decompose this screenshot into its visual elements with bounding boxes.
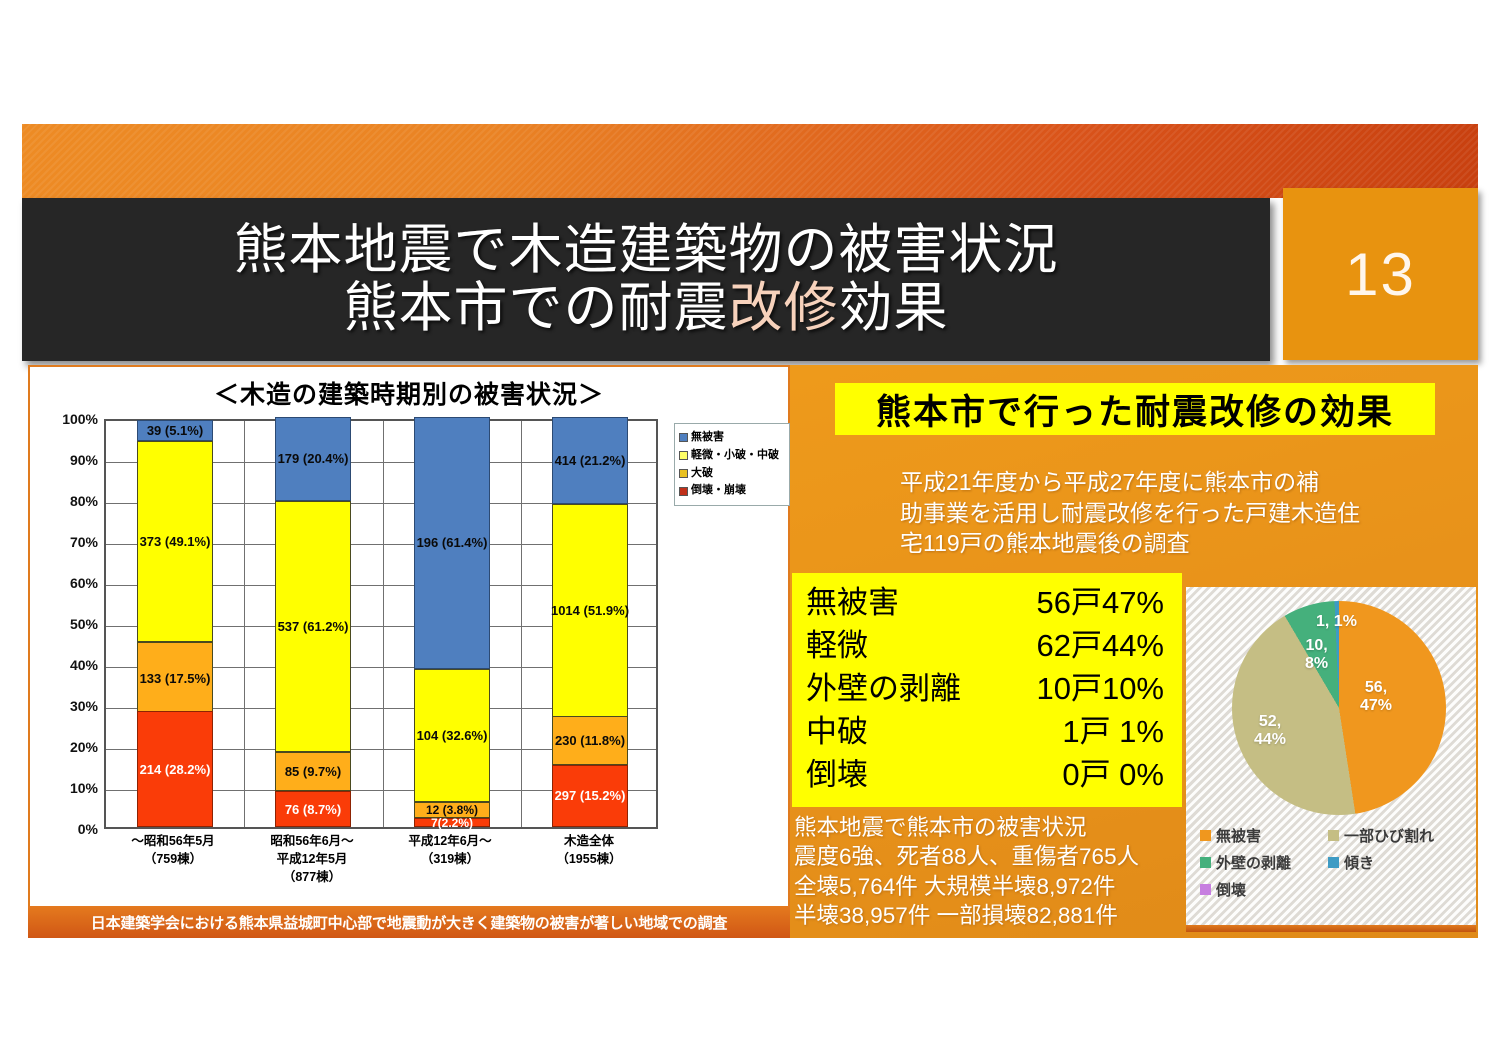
damage-line: 半壊38,957件 一部損壊82,881件 (794, 901, 1194, 930)
pie-label-line: 8% (1305, 655, 1328, 673)
pie-legend-label: 無被害 (1216, 825, 1261, 846)
damage-line: 全壊5,764件 大規模半壊8,972件 (794, 872, 1194, 901)
x-label-line: （1955棟） (515, 851, 663, 869)
y-tick: 50% (40, 616, 98, 632)
description-line: 平成21年度から平成27年度に熊本市の補 (900, 467, 1420, 498)
chart-legend: 無被害 軽微・小破・中破 大破 倒壊・崩壊 (674, 423, 790, 506)
y-tick: 30% (40, 698, 98, 714)
vertical-gridline (383, 421, 384, 827)
pie-chart-card: 56, 47% 52, 44% 10, 8% 1, 1% 無被害 (1186, 587, 1476, 932)
pie-legend-item: 傾き (1328, 852, 1458, 873)
y-tick: 70% (40, 534, 98, 550)
legend-label: 大破 (691, 465, 713, 483)
bar-segment-taiha: 85 (9.7%) (275, 752, 351, 792)
bar-segment-keibi: 1014 (51.9%) (552, 504, 628, 717)
header-accent-band (22, 124, 1478, 198)
pie-card-base-bar (1186, 925, 1476, 932)
retrofit-stats-table: 無被害 56戸47% 軽微 62戸44% 外壁の剥離 10戸10% 中破 1戸 … (792, 573, 1182, 807)
page-number: 13 (1345, 240, 1416, 309)
slide-title-panel: 熊本地震で木造建築物の被害状況 熊本市での耐震改修効果 (22, 198, 1270, 361)
bar-segment-tokai: 7(2.2%) (414, 818, 490, 827)
y-axis-labels: 100% 90% 80% 70% 60% 50% 40% 30% 20% 10%… (38, 419, 98, 894)
chart-area: 100% 90% 80% 70% 60% 50% 40% 30% 20% 10%… (38, 419, 784, 894)
title-line-2-part-a: 熊本市での耐震 (344, 278, 729, 338)
pie-legend-label: 傾き (1344, 852, 1374, 873)
stats-label: 外壁の剥離 (806, 667, 1001, 710)
bar-segment-keibi: 537 (61.2%) (275, 501, 351, 752)
stats-row: 中破 1戸 1% (806, 710, 1172, 753)
title-line-1: 熊本地震で木造建築物の被害状況 (234, 222, 1059, 279)
x-axis-category: 昭和56年6月～ 平成12年5月 （877棟） (238, 833, 386, 886)
pie-label-line: 10, (1305, 637, 1328, 655)
description-line: 助事業を活用し耐震改修を行った戸建木造住 (900, 498, 1420, 529)
bar-segment-muhigai: 414 (21.2%) (552, 417, 628, 504)
stats-label: 無被害 (806, 581, 1001, 624)
stats-row: 無被害 56戸47% (806, 581, 1172, 624)
pie-chart: 56, 47% 52, 44% 10, 8% 1, 1% (1232, 601, 1446, 815)
y-tick: 20% (40, 739, 98, 755)
stats-value: 56戸47% (1001, 581, 1172, 624)
pie-label-line: 56, (1360, 679, 1392, 697)
x-label-line: ～昭和56年5月 (99, 833, 247, 851)
y-tick: 80% (40, 493, 98, 509)
legend-swatch-icon (1328, 830, 1339, 841)
bar-segment-muhigai: 196 (61.4%) (414, 417, 490, 669)
vertical-gridline (521, 421, 522, 827)
bar-chart-panel: ＜木造の建築時期別の被害状況＞ 100% 90% 80% 70% 60% 50%… (28, 365, 790, 935)
damage-line: 熊本地震で熊本市の被害状況 (794, 813, 1194, 842)
legend-item: 無被害 (679, 429, 785, 447)
retrofit-effect-panel: 熊本市で行った耐震改修の効果 平成21年度から平成27年度に熊本市の補 助事業を… (790, 365, 1478, 938)
bar-segment-muhigai: 39 (5.1%) (137, 420, 213, 441)
stats-label: 中破 (806, 710, 1001, 753)
stats-value: 1戸 1% (1001, 710, 1172, 753)
legend-item: 軽微・小破・中破 (679, 447, 785, 465)
y-tick: 100% (40, 411, 98, 427)
bar-segment-tokai: 76 (8.7%) (275, 791, 351, 827)
title-line-2-part-b: 効果 (839, 278, 949, 338)
pie-legend-item: 倒壊 (1200, 879, 1328, 900)
stats-row: 倒壊 0戸 0% (806, 753, 1172, 796)
kumamoto-damage-summary: 熊本地震で熊本市の被害状況 震度6強、死者88人、重傷者765人 全壊5,764… (794, 813, 1194, 931)
x-axis-category: ～昭和56年5月 （759棟） (99, 833, 247, 869)
legend-item: 大破 (679, 465, 785, 483)
y-tick: 60% (40, 575, 98, 591)
pie-chart-legend: 無被害 一部ひび割れ 外壁の剥離 傾き 倒壊 (1200, 825, 1462, 900)
x-axis-category: 木造全体 （1955棟） (515, 833, 663, 869)
x-axis-labels: ～昭和56年5月 （759棟） 昭和56年6月～ 平成12年5月 （877棟） … (104, 833, 658, 895)
pie-legend-label: 一部ひび割れ (1344, 825, 1434, 846)
bar-segment-taiha: 133 (17.5%) (137, 642, 213, 714)
legend-swatch-icon (1200, 884, 1211, 895)
y-tick: 0% (40, 821, 98, 837)
right-panel-title: 熊本市で行った耐震改修の効果 (835, 383, 1435, 435)
legend-swatch-icon (1200, 830, 1211, 841)
x-label-line: （319棟） (376, 851, 524, 869)
bar-segment-tokai: 214 (28.2%) (137, 711, 213, 827)
pie-label-line: 52, (1254, 713, 1286, 731)
legend-swatch-icon (1328, 857, 1339, 868)
legend-label: 倒壊・崩壊 (691, 482, 746, 500)
legend-item: 倒壊・崩壊 (679, 482, 785, 500)
bar-segment-keibi: 104 (32.6%) (414, 669, 490, 803)
bar-segment-muhigai: 179 (20.4%) (275, 417, 351, 501)
description-line: 宅119戸の熊本地震後の調査 (900, 528, 1420, 559)
chart-title: ＜木造の建築時期別の被害状況＞ (30, 375, 788, 411)
pie-legend-item: 無被害 (1200, 825, 1328, 846)
page-title: 熊本地震で木造建築物の被害状況 熊本市での耐震改修効果 (234, 222, 1059, 336)
stats-value: 0戸 0% (1001, 753, 1172, 796)
vertical-gridline (244, 421, 245, 827)
pie-legend-label: 外壁の剥離 (1216, 852, 1291, 873)
page-number-badge: 13 (1283, 188, 1478, 360)
stats-row: 外壁の剥離 10戸10% (806, 667, 1172, 710)
legend-swatch-icon (679, 469, 688, 478)
x-label-line: 昭和56年6月～ (238, 833, 386, 851)
y-tick: 90% (40, 452, 98, 468)
stats-label: 倒壊 (806, 753, 1001, 796)
pie-slice-label-katamuki: 1, 1% (1316, 613, 1357, 631)
plot-area: 39 (5.1%) 373 (49.1%) 133 (17.5%) 214 (2… (104, 419, 658, 829)
stats-row: 軽微 62戸44% (806, 624, 1172, 667)
pie-legend-item: 一部ひび割れ (1328, 825, 1458, 846)
stats-label: 軽微 (806, 624, 1001, 667)
legend-swatch-icon (679, 433, 688, 442)
legend-label: 無被害 (691, 429, 724, 447)
pie-slice-label-hakuri: 10, 8% (1305, 637, 1328, 673)
title-line-2: 熊本市での耐震改修効果 (234, 280, 1059, 337)
x-label-line: 平成12年5月 (238, 851, 386, 869)
x-axis-category: 平成12年6月～ （319棟） (376, 833, 524, 869)
x-label-line: （759棟） (99, 851, 247, 869)
bar-segment-tokai: 297 (15.2%) (552, 765, 628, 827)
pie-slice-label-hibiware: 52, 44% (1254, 713, 1286, 749)
damage-line: 震度6強、死者88人、重傷者765人 (794, 842, 1194, 871)
pie-legend-item: 外壁の剥離 (1200, 852, 1328, 873)
title-line-2-highlight: 改修 (729, 278, 839, 338)
y-tick: 10% (40, 780, 98, 796)
x-label-line: （877棟） (238, 869, 386, 887)
stats-value: 10戸10% (1001, 667, 1172, 710)
x-label-line: 平成12年6月～ (376, 833, 524, 851)
pie-label-line: 47% (1360, 697, 1392, 715)
stats-value: 62戸44% (1001, 624, 1172, 667)
bar-segment-keibi: 373 (49.1%) (137, 441, 213, 642)
legend-swatch-icon (679, 487, 688, 496)
chart-source-caption: 日本建築学会における熊本県益城町中心部で地震動が大きく建築物の被害が著しい地域で… (28, 906, 790, 938)
x-label-line: 木造全体 (515, 833, 663, 851)
y-tick: 40% (40, 657, 98, 673)
pie-legend-label: 倒壊 (1216, 879, 1246, 900)
pie-chart-area: 56, 47% 52, 44% 10, 8% 1, 1% (1232, 601, 1446, 815)
legend-label: 軽微・小破・中破 (691, 447, 779, 465)
pie-label-line: 44% (1254, 731, 1286, 749)
legend-swatch-icon (1200, 857, 1211, 868)
pie-slice-label-muhigai: 56, 47% (1360, 679, 1392, 715)
legend-swatch-icon (679, 451, 688, 460)
bar-segment-taiha: 230 (11.8%) (552, 716, 628, 764)
right-panel-description: 平成21年度から平成27年度に熊本市の補 助事業を活用し耐震改修を行った戸建木造… (900, 467, 1420, 559)
